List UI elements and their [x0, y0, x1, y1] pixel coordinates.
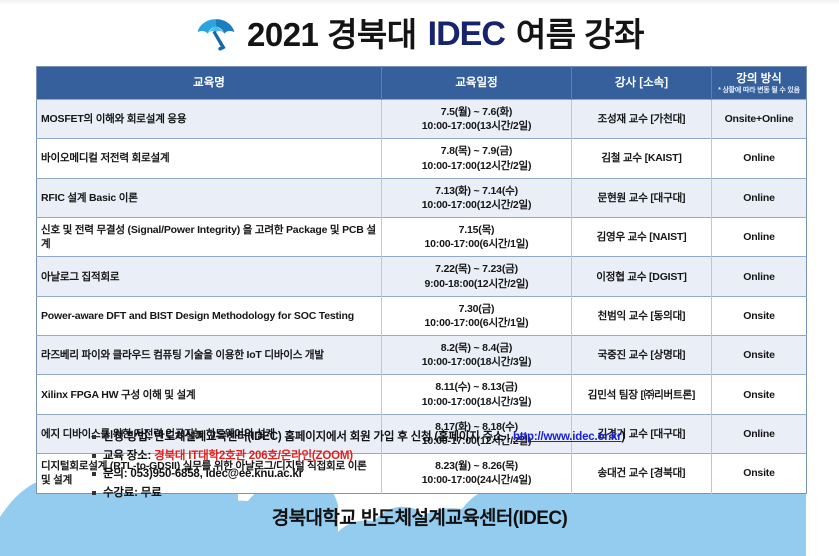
cell-schedule-date: 7.15(목) — [459, 224, 495, 236]
note-contact: 문의: 053)950-6858, idec@ee.knu.ac.kr — [92, 465, 812, 484]
note-apply-method: 신청 방법: 반도체설계교육센터(IDEC) 홈페이지에서 회원 가입 후 신청… — [92, 428, 812, 447]
cell-instructor: 국중진 교수 [상명대] — [572, 336, 712, 375]
cell-schedule-time: 10:00-17:00(6시간/1일) — [386, 316, 567, 330]
table-row: RFIC 설계 Basic 이론 7.13(화) ~ 7.14(수) 10:00… — [37, 178, 807, 217]
cell-schedule: 7.22(목) ~ 7.23(금) 9:00-18:00(12시간/2일) — [382, 257, 572, 296]
table-row: 아날로그 집적회로 7.22(목) ~ 7.23(금) 9:00-18:00(1… — [37, 257, 807, 296]
col-header-mode-note: * 상황에 따라 변동 될 수 있음 — [714, 87, 804, 95]
cell-schedule: 7.30(금) 10:00-17:00(6시간/1일) — [382, 296, 572, 335]
cell-instructor: 김영우 교수 [NAIST] — [572, 218, 712, 257]
table-header-row: 교육명 교육일정 강사 [소속] 강의 방식 * 상황에 따라 변동 될 수 있… — [37, 67, 807, 100]
table-row: 라즈베리 파이와 클라우드 컴퓨팅 기술을 이용한 IoT 디바이스 개발 8.… — [37, 336, 807, 375]
cell-course-name: Power-aware DFT and BIST Design Methodol… — [37, 296, 382, 335]
cell-instructor: 문현원 교수 [대구대] — [572, 178, 712, 217]
cell-schedule-time: 9:00-18:00(12시간/2일) — [386, 277, 567, 291]
slide-root: 2021 경북대 IDEC 여름 강좌 교육명 교육일정 — [0, 0, 839, 556]
cell-mode: Onsite — [712, 336, 807, 375]
cell-course-name: MOSFET의 이해와 회로설계 응용 — [37, 100, 382, 139]
idec-homepage-link[interactable]: http://www.idec.or.kr — [513, 431, 621, 443]
cell-schedule: 7.8(목) ~ 7.9(금) 10:00-17:00(12시간/2일) — [382, 139, 572, 178]
slide-title: 2021 경북대 IDEC 여름 강좌 — [0, 8, 839, 60]
note-contact-text: 문의: 053)950-6858, idec@ee.knu.ac.kr — [103, 465, 303, 484]
beach-umbrella-icon — [195, 13, 237, 55]
cell-schedule-date: 8.2(목) ~ 8.4(금) — [441, 342, 512, 354]
cell-schedule-date: 7.8(목) ~ 7.9(금) — [441, 145, 512, 157]
cell-instructor: 이정협 교수 [DGIST] — [572, 257, 712, 296]
cell-course-name: 아날로그 집적회로 — [37, 257, 382, 296]
bullet-icon — [92, 472, 96, 476]
cell-schedule: 7.15(목) 10:00-17:00(6시간/1일) — [382, 218, 572, 257]
table-row: 바이오메디컬 저전력 회로설계 7.8(목) ~ 7.9(금) 10:00-17… — [37, 139, 807, 178]
title-prefix: 2021 경북대 — [247, 18, 417, 51]
cell-mode: Onsite — [712, 296, 807, 335]
bullet-icon — [92, 454, 96, 458]
cell-schedule: 8.11(수) ~ 8.13(금) 10:00-17:00(18시간/3일) — [382, 375, 572, 414]
note-apply-method-text: 신청 방법: 반도체설계교육센터(IDEC) 홈페이지에서 회원 가입 후 신청… — [103, 428, 625, 447]
cell-course-name: 신호 및 전력 무결성 (Signal/Power Integrity) 을 고… — [37, 218, 382, 257]
cell-schedule: 8.2(목) ~ 8.4(금) 10:00-17:00(18시간/3일) — [382, 336, 572, 375]
cell-schedule-date: 8.11(수) ~ 8.13(금) — [435, 381, 517, 393]
cell-mode: Online — [712, 218, 807, 257]
cell-schedule: 7.13(화) ~ 7.14(수) 10:00-17:00(12시간/2일) — [382, 178, 572, 217]
cell-mode: Online — [712, 139, 807, 178]
cell-schedule-date: 7.30(금) — [459, 303, 495, 315]
table-row: Power-aware DFT and BIST Design Methodol… — [37, 296, 807, 335]
col-header-instructor: 강사 [소속] — [572, 67, 712, 100]
cell-schedule: 7.5(월) ~ 7.6(화) 10:00-17:00(13시간/2일) — [382, 100, 572, 139]
cell-instructor: 조성재 교수 [가천대] — [572, 100, 712, 139]
cell-schedule-time: 10:00-17:00(18시간/3일) — [386, 395, 567, 409]
cell-schedule-date: 7.22(목) ~ 7.23(금) — [435, 263, 518, 275]
col-header-instructor-label: 강사 [소속] — [615, 77, 668, 89]
cell-schedule-time: 10:00-17:00(12시간/2일) — [386, 159, 567, 173]
cell-schedule-time: 10:00-17:00(18시간/3일) — [386, 355, 567, 369]
note-fee: 수강료: 무료 — [92, 484, 812, 503]
col-header-mode-label: 강의 방식 — [736, 73, 782, 85]
table-row: MOSFET의 이해와 회로설계 응용 7.5(월) ~ 7.6(화) 10:0… — [37, 100, 807, 139]
cell-schedule-date: 7.5(월) ~ 7.6(화) — [441, 106, 512, 118]
top-gray-band — [0, 0, 839, 5]
note-apply-method-label: 신청 방법: 반도체설계교육센터(IDEC) 홈페이지에서 회원 가입 후 신청… — [103, 431, 513, 443]
cell-mode: Online — [712, 257, 807, 296]
cell-course-name: Xilinx FPGA HW 구성 이해 및 설계 — [37, 375, 382, 414]
cell-course-name: 바이오메디컬 저전력 회로설계 — [37, 139, 382, 178]
table-row: Xilinx FPGA HW 구성 이해 및 설계 8.11(수) ~ 8.13… — [37, 375, 807, 414]
note-fee-text: 수강료: 무료 — [103, 484, 162, 503]
footer-organization: 경북대학교 반도체설계교육센터(IDEC) — [0, 503, 839, 530]
col-header-course-name-label: 교육명 — [193, 77, 225, 89]
col-header-course-name: 교육명 — [37, 67, 382, 100]
cell-instructor: 천범익 교수 [동의대] — [572, 296, 712, 335]
title-brand-idec: IDEC — [428, 17, 505, 51]
table-row: 신호 및 전력 무결성 (Signal/Power Integrity) 을 고… — [37, 218, 807, 257]
cell-schedule-time: 10:00-17:00(6시간/1일) — [386, 237, 567, 251]
bullet-icon — [92, 491, 96, 495]
cell-course-name: 라즈베리 파이와 클라우드 컴퓨팅 기술을 이용한 IoT 디바이스 개발 — [37, 336, 382, 375]
cell-schedule-date: 7.13(화) ~ 7.14(수) — [435, 185, 518, 197]
cell-mode: Onsite — [712, 375, 807, 414]
note-place: 교육 장소: 경북대 IT대학2호관 206호/온라인(ZOOM) — [92, 447, 812, 466]
cell-instructor: 김철 교수 [KAIST] — [572, 139, 712, 178]
cell-schedule-time: 10:00-17:00(12시간/2일) — [386, 198, 567, 212]
note-place-label: 교육 장소: — [103, 450, 154, 462]
title-suffix: 여름 강좌 — [516, 18, 644, 51]
bullet-icon — [92, 435, 96, 439]
note-apply-method-tail: ) — [621, 431, 625, 443]
col-header-schedule-label: 교육일정 — [455, 77, 497, 89]
cell-instructor: 김민석 팀장 [㈜리버트론] — [572, 375, 712, 414]
cell-mode: Online — [712, 178, 807, 217]
cell-course-name: RFIC 설계 Basic 이론 — [37, 178, 382, 217]
col-header-schedule: 교육일정 — [382, 67, 572, 100]
cell-mode: Onsite+Online — [712, 100, 807, 139]
note-place-text: 교육 장소: 경북대 IT대학2호관 206호/온라인(ZOOM) — [103, 447, 353, 466]
cell-schedule-time: 10:00-17:00(13시간/2일) — [386, 119, 567, 133]
col-header-mode: 강의 방식 * 상황에 따라 변동 될 수 있음 — [712, 67, 807, 100]
notes-list: 신청 방법: 반도체설계교육센터(IDEC) 홈페이지에서 회원 가입 후 신청… — [92, 428, 812, 503]
note-place-value: 경북대 IT대학2호관 206호/온라인(ZOOM) — [154, 450, 353, 462]
